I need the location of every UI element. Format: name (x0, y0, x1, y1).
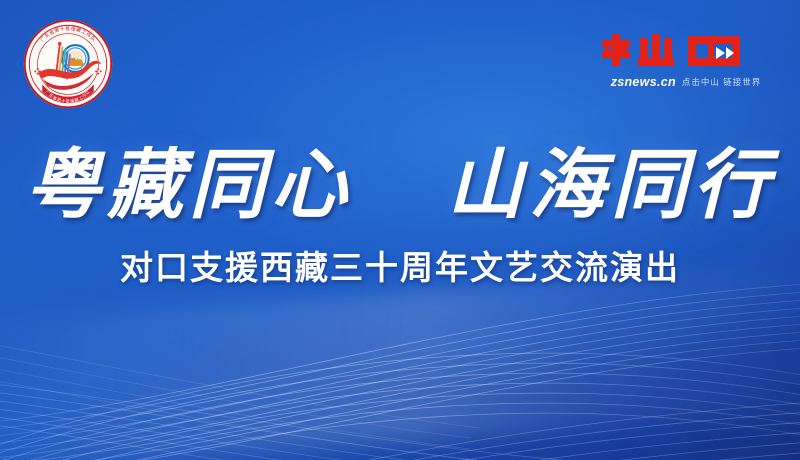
zsnews-slogan-text: 点击中山 链接世界 (682, 76, 761, 88)
banner-headline: 粤藏同心 山海同行 (0, 148, 800, 224)
aid-tibet-team-emblem: 广东省第十批援藏工作队 (22, 18, 114, 110)
zsnews-domain-text: zsnews.cn (611, 75, 676, 89)
zhongshan-net-mark-icon (596, 32, 776, 74)
headline-part-1: 粤藏同心 (25, 144, 353, 228)
banner-subtitle: 对口支援西藏三十周年文艺交流演出 (0, 253, 800, 286)
zsnews-logo[interactable]: zsnews.cn 点击中山 链接世界 (596, 32, 776, 94)
headline-part-2: 山海同行 (447, 144, 775, 228)
wave-glow-sweep (0, 261, 800, 460)
event-banner: 广东省第十批援藏工作队 (0, 0, 800, 460)
